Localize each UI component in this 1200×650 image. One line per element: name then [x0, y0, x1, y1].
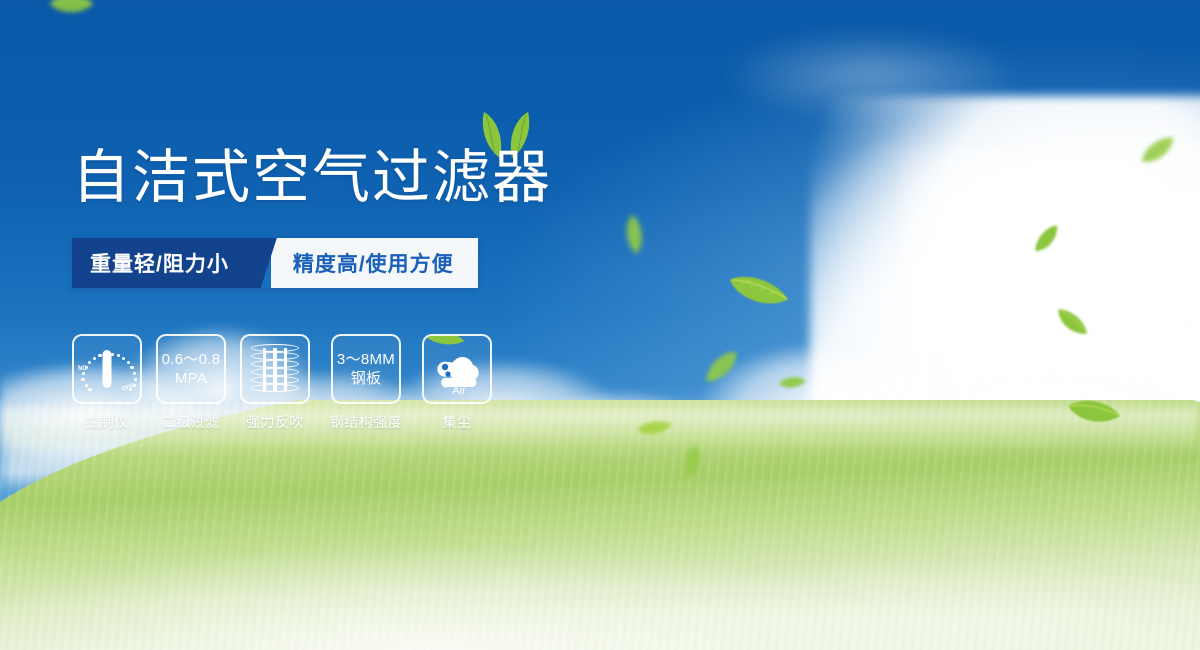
feature-caption: 二级过滤	[162, 412, 220, 432]
subtitle-right: 精度高/使用方便	[271, 238, 478, 288]
feature-caption: 控制仪	[85, 412, 129, 432]
gauge-icon: NO OFF	[79, 341, 135, 397]
feature-caption: 集尘	[443, 412, 472, 432]
page-title: 自洁式空气过滤器	[72, 146, 552, 210]
steel-material: 钢板	[337, 369, 395, 388]
feature-item-blowback[interactable]: 强力反吹	[240, 334, 310, 432]
product-hero-banner: 自洁式空气过滤器 重量轻/阻力小 精度高/使用方便 NO OFF	[0, 0, 1200, 650]
feature-item-control[interactable]: NO OFF	[72, 334, 142, 432]
feature-icon-box: NO OFF	[72, 334, 142, 404]
pressure-unit: MPA	[162, 369, 221, 388]
feature-icon-box: 3～8MM 钢板	[331, 334, 401, 404]
feature-item-steel[interactable]: 3～8MM 钢板 钢结构强度	[324, 334, 408, 432]
svg-text:Air: Air	[452, 385, 466, 395]
filter-stack-icon	[251, 344, 299, 394]
pressure-range: 0.6～0.8	[162, 350, 221, 369]
feature-icon-box	[240, 334, 310, 404]
feature-list: NO OFF	[72, 334, 492, 432]
subtitle-bar: 重量轻/阻力小 精度高/使用方便	[72, 238, 478, 288]
steel-thickness: 3～8MM	[337, 350, 395, 369]
steel-plate-icon: 3～8MM 钢板	[337, 350, 395, 388]
subtitle-left: 重量轻/阻力小	[72, 238, 251, 288]
cloud-air-icon: Air	[429, 343, 485, 395]
pressure-value-icon: 0.6～0.8 MPA	[162, 350, 221, 388]
feature-item-pressure[interactable]: 0.6～0.8 MPA 二级过滤	[156, 334, 226, 432]
feature-icon-box: 0.6～0.8 MPA	[156, 334, 226, 404]
field-light-sheen	[0, 480, 1200, 650]
feature-item-dust[interactable]: Air 集尘	[422, 334, 492, 432]
feature-caption: 钢结构强度	[330, 412, 403, 432]
feature-caption: 强力反吹	[246, 412, 304, 432]
feature-icon-box: Air	[422, 334, 492, 404]
